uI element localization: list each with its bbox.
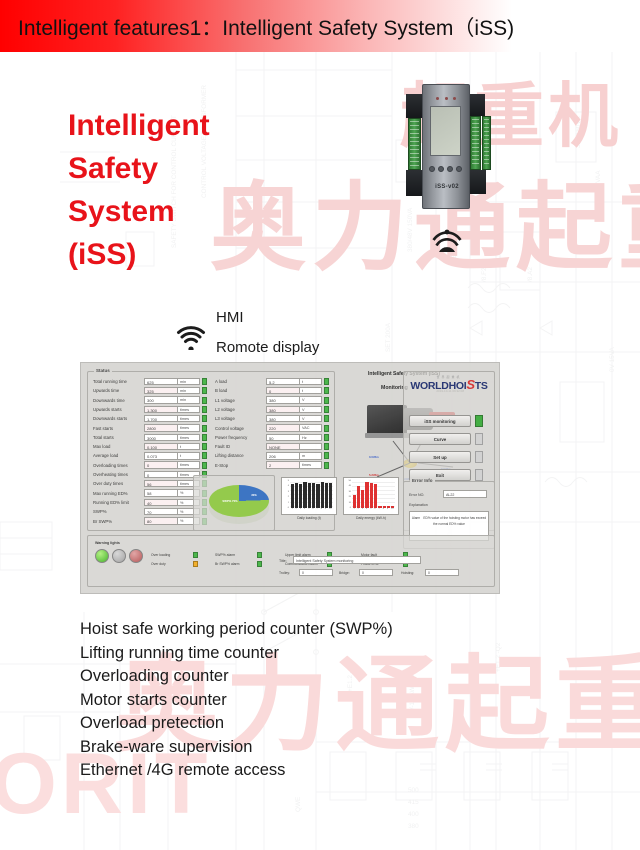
status-left-value[interactable]: 70	[144, 508, 178, 515]
status-indicator-label: Over loading	[151, 553, 170, 557]
chart-bar	[316, 484, 319, 508]
chart-xtick: 6	[312, 508, 313, 514]
warning-lamp-gray	[112, 549, 126, 563]
status-left-label: Total starts	[93, 435, 144, 440]
terminal-strip-left	[408, 118, 421, 170]
chart-xtick: 3	[300, 508, 301, 514]
chart-bar	[374, 484, 377, 508]
chart-xtick: 5	[308, 508, 309, 514]
status-right-led	[324, 462, 329, 469]
status-indicator-label: Br SWP% alarm	[215, 562, 240, 566]
status-right-value[interactable]: 220	[266, 424, 300, 431]
svg-text:380/220V VAA: 380/220V VAA	[595, 170, 602, 212]
status-right-unit: t	[300, 378, 322, 385]
header-bar: Intelligent features1：Intelligent Safety…	[0, 0, 640, 52]
iss-controller-device: iSS-v02	[400, 80, 492, 212]
status-right-label: L2 voltage	[215, 407, 266, 412]
status-right-unit: Hz	[300, 434, 322, 441]
status-left-unit: times	[178, 406, 200, 413]
status-left-label: Max running ED%	[93, 491, 144, 496]
status-left-label: Overheating times	[93, 472, 144, 477]
status-left-value[interactable]: 80	[144, 517, 178, 524]
terminal-block-dark-right-top	[470, 94, 485, 116]
status-right-label: L1 voltage	[215, 398, 266, 403]
status-left-value[interactable]: 1,700	[144, 415, 178, 422]
status-right-row: L2 voltage380V	[215, 405, 329, 414]
status-left-value[interactable]: 40	[144, 499, 178, 506]
device-button-3[interactable]	[447, 166, 453, 172]
device-button-1[interactable]	[429, 166, 435, 172]
status-left-label: Downwards starts	[93, 416, 144, 421]
status-left-led	[202, 397, 207, 404]
svg-text:SET 200A: SET 200A	[385, 322, 392, 352]
status-right-label: A load	[215, 379, 266, 384]
status-left-row: Downwards time300min	[93, 396, 207, 405]
status-left-led	[202, 434, 207, 441]
svg-text:415: 415	[408, 799, 419, 806]
bridge-label: Bridge:	[339, 571, 350, 575]
status-left-led	[202, 378, 207, 385]
status-right-row: Power frequency50Hz	[215, 433, 329, 442]
heading-line-3: System	[68, 190, 210, 233]
chart-bar	[312, 483, 315, 508]
status-left-label: Overloading times	[93, 463, 144, 468]
status-left-unit: min	[178, 378, 200, 385]
status-left-label: SWP%	[93, 509, 144, 514]
status-right-value[interactable]: 5.2	[266, 378, 300, 385]
status-left-label: Br SWP%	[93, 519, 144, 524]
device-button-row[interactable]	[429, 166, 462, 174]
chart-bar	[357, 486, 360, 508]
error-group-title: Error Info	[410, 478, 435, 483]
terminal-block-dark-right-bottom	[470, 170, 486, 194]
status-indicator-led	[257, 552, 262, 558]
device-status-leds	[436, 97, 456, 101]
status-left-led	[202, 443, 207, 450]
terminal-block-dark-left-bottom	[406, 170, 422, 196]
status-left-led	[202, 425, 207, 432]
wireless-signal-icon	[430, 228, 464, 254]
chart-bar	[329, 483, 332, 508]
status-left-row: Downwards starts1,700times	[93, 414, 207, 423]
chart-xtick: 8	[383, 508, 384, 514]
status-right-row: E-Stop2times	[215, 461, 329, 470]
status-left-unit: times	[178, 415, 200, 422]
status-right-led	[324, 406, 329, 413]
pie-slice-b-label: 30%	[247, 493, 261, 497]
chart-bar	[308, 483, 311, 508]
status-left-label: Upwards starts	[93, 407, 144, 412]
status-left-row: Max running ED%58%	[93, 489, 207, 498]
status-right-value[interactable]: NONE	[266, 443, 300, 450]
daily-loading-chart: 543210 12345678910	[281, 477, 337, 515]
status-right-row: Lifting distance206m	[215, 451, 329, 460]
status-right-unit	[300, 443, 322, 450]
svg-text:380/48V 150VA: 380/48V 150VA	[407, 207, 414, 252]
chart-bar	[353, 495, 356, 508]
chart-xtick: 2	[296, 508, 297, 514]
status-left-row: Total running time625min	[93, 377, 207, 386]
chart-bar	[295, 483, 298, 508]
status-right-led	[324, 443, 329, 450]
status-left-row: Average load0.073t	[93, 451, 207, 460]
status-left-row: Upwards starts1,300times	[93, 405, 207, 414]
chart-bar	[299, 484, 302, 508]
chart-xtick: 1	[354, 508, 355, 514]
status-right-label: B load	[215, 388, 266, 393]
chart-xtick: 4	[366, 508, 367, 514]
terminal-strip-right-b	[482, 116, 491, 170]
chart-bar	[361, 490, 364, 508]
status-right-row: Control voltage220VAC	[215, 424, 329, 433]
status-right-led	[324, 378, 329, 385]
daily-loading-caption: Daily loading (t)	[281, 516, 337, 520]
status-left-value[interactable]: 0.073	[144, 452, 178, 459]
status-right-unit: V	[300, 406, 322, 413]
status-right-led	[324, 415, 329, 422]
status-left-label: Total running time	[93, 379, 144, 384]
status-right-unit: V	[300, 415, 322, 422]
status-left-label: Upwards time	[93, 388, 144, 393]
status-right-value[interactable]: 206	[266, 452, 300, 459]
status-left-row: Running ED% limit40%	[93, 498, 207, 507]
chart-xtick: 9	[325, 508, 326, 514]
error-no-label: Error NO.	[409, 493, 424, 497]
status-right-led	[324, 452, 329, 459]
status-left-row: Overheating times0times	[93, 470, 207, 479]
svg-text:/8.F2: /8.F2	[481, 267, 488, 282]
hmi-label: HMI	[216, 309, 244, 326]
status-right-row: Fault IDNONE	[215, 442, 329, 451]
status-left-value[interactable]: 325	[144, 387, 178, 394]
chart-xtick: 10	[329, 508, 331, 514]
terminal-strip-right-a	[470, 116, 481, 170]
remote-display-label: Romote display	[216, 339, 319, 356]
status-right-unit: times	[300, 461, 322, 468]
svg-text:380: 380	[408, 823, 419, 830]
device-model-label: iSS-v02	[427, 184, 467, 190]
chart-xtick: 3	[362, 508, 363, 514]
status-left-unit: min	[178, 396, 200, 403]
chart-xtick: 2	[358, 508, 359, 514]
status-left-row: Over duty times56times	[93, 479, 207, 488]
heading-line-1: Intelligent	[68, 104, 210, 147]
hoisting-input[interactable]: 0	[425, 569, 459, 576]
btn-curve[interactable]: Curve	[409, 433, 471, 445]
device-button-4[interactable]	[456, 166, 462, 172]
chart-bar	[325, 483, 328, 508]
hoisting-label: Hoisting:	[401, 571, 414, 575]
btn-iss-monitoring-led	[475, 415, 483, 427]
feature-item-6: Brake-ware supervision	[80, 736, 540, 760]
status-right-row: L3 voltage380V	[215, 414, 329, 423]
device-lcd-screen	[430, 106, 461, 156]
pie-slice-a-label: SWP% 70%	[219, 499, 241, 503]
status-right-row: L1 voltage380V	[215, 396, 329, 405]
chart-bar	[321, 482, 324, 508]
slide-root: SAFETY SWITCH FOR CONTROL CURRENT CONTRO…	[0, 0, 640, 850]
status-left-unit: t	[178, 443, 200, 450]
status-left-row: Fast starts2800times	[93, 424, 207, 433]
brand-logo: 世界起重机 WORLDHOISTS	[409, 375, 489, 392]
status-left-led	[202, 452, 207, 459]
status-left-label: Downwards time	[93, 398, 144, 403]
swp-pie-chart: SWP% 70% 30%	[209, 485, 269, 517]
status-right-label: Fault ID	[215, 444, 266, 449]
slide-heading: Intelligent Safety System (iSS)	[68, 104, 210, 276]
status-right-led	[324, 425, 329, 432]
status-left-row: Upwards time325min	[93, 386, 207, 395]
chart-xtick: 10	[391, 508, 393, 514]
warning-lights-title: Warning lights	[95, 541, 120, 545]
daily-energy-caption: Daily energy (kW-h)	[343, 516, 399, 520]
status-right-label: E-Stop	[215, 463, 266, 468]
feature-item-4: Motor starts counter	[80, 689, 540, 713]
chart-bar	[365, 482, 368, 508]
trolley-label: Trolley:	[279, 571, 290, 575]
wifi-icon	[176, 326, 206, 350]
btn-iss-monitoring[interactable]: iSS monitoring	[409, 415, 471, 427]
status-left-unit: min	[178, 387, 200, 394]
status-indicator-led	[193, 552, 198, 558]
svg-text:3kV/150VA: 3kV/150VA	[575, 116, 582, 148]
status-left-row: Overloading times0times	[93, 461, 207, 470]
hmi-screenshot-panel[interactable]: Status Total running time625minUpwards t…	[80, 362, 500, 594]
feature-list: Hoist safe working period counter (SWP%)…	[80, 618, 540, 783]
chart-bar	[291, 484, 294, 508]
status-left-unit: t	[178, 452, 200, 459]
btn-set-up-led	[475, 451, 483, 463]
status-right-unit: t	[300, 387, 322, 394]
heading-line-4: (iSS)	[68, 233, 210, 276]
status-left-value[interactable]: 0	[144, 471, 178, 478]
status-left-row: Br SWP%80%	[93, 517, 207, 526]
status-left-led	[202, 406, 207, 413]
chart-xtick: 7	[317, 508, 318, 514]
btn-curve-led	[475, 433, 483, 445]
status-left-value[interactable]: 0.100	[144, 443, 178, 450]
status-right-value[interactable]: 380	[266, 396, 300, 403]
status-right-value[interactable]: 2	[266, 461, 300, 468]
svg-text:400: 400	[408, 811, 419, 818]
status-right-led	[324, 434, 329, 441]
chart-xtick: 8	[321, 508, 322, 514]
status-right-value[interactable]: 380	[266, 406, 300, 413]
status-right-unit: VAC	[300, 424, 322, 431]
btn-exit-led	[475, 469, 483, 481]
warning-lamp-green	[95, 549, 109, 563]
status-left-unit: times	[178, 461, 200, 468]
status-left-row: SWP%70%	[93, 507, 207, 516]
brand-name: WORLDHOISTS	[409, 379, 489, 392]
chart-xtick: 9	[387, 508, 388, 514]
status-left-value[interactable]: 625	[144, 378, 178, 385]
explanation-label: Explanation	[409, 503, 428, 507]
chart-xtick: 5	[370, 508, 371, 514]
status-left-value[interactable]: 3000	[144, 434, 178, 441]
status-left-label: Over duty times	[93, 481, 144, 486]
status-right-value[interactable]: 0	[266, 387, 300, 394]
chart-bar	[370, 483, 373, 508]
error-no-field[interactable]: AL22	[443, 490, 487, 498]
btn-set-up[interactable]: Set up	[409, 451, 471, 463]
status-left-value[interactable]: 300	[144, 396, 178, 403]
terminal-block-dark-left-top	[406, 94, 422, 118]
status-left-label: Max load	[93, 444, 144, 449]
status-right-row: B load0t	[215, 386, 329, 395]
svg-text:/8.A2: /8.A2	[527, 267, 534, 282]
feature-item-1: Hoist safe working period counter (SWP%)	[80, 618, 540, 642]
status-left-value[interactable]: 1,300	[144, 406, 178, 413]
status-indicator-led	[193, 561, 198, 567]
status-right-label: Control voltage	[215, 426, 266, 431]
status-left-value[interactable]: 2800	[144, 424, 178, 431]
warning-lamp-red	[129, 549, 143, 563]
svg-text:QWE: QWE	[295, 797, 302, 812]
chart-xtick: 6	[374, 508, 375, 514]
status-right-label: Lifting distance	[215, 453, 266, 458]
status-right-label: L3 voltage	[215, 416, 266, 421]
status-right-label: Power frequency	[215, 435, 266, 440]
title-field-label: Title:	[279, 559, 287, 563]
status-left-label: Fast starts	[93, 426, 144, 431]
feature-item-7: Ethernet /4G remote access	[80, 759, 540, 783]
status-left-led	[202, 462, 207, 469]
status-left-value[interactable]: 58	[144, 489, 178, 496]
status-indicator-led	[257, 561, 262, 567]
chart-bar	[303, 482, 306, 508]
status-left-row: Total starts3000times	[93, 433, 207, 442]
status-indicator-label: Over duty	[151, 562, 166, 566]
title-field-input[interactable]: Intelligent Safety System monitoring	[293, 556, 421, 564]
feature-item-2: Lifting running time counter	[80, 642, 540, 666]
svg-text:500: 500	[408, 787, 419, 794]
svg-text:0V 15VA: 0V 15VA	[609, 347, 616, 372]
status-left-unit: times	[178, 434, 200, 441]
status-right-row: A load5.2t	[215, 377, 329, 386]
status-left-led	[202, 415, 207, 422]
feature-item-3: Overloading counter	[80, 665, 540, 689]
status-left-label: Running ED% limit	[93, 500, 144, 505]
status-left-unit: times	[178, 424, 200, 431]
trolley-input[interactable]: 0	[299, 569, 333, 576]
device-button-2[interactable]	[438, 166, 444, 172]
status-right-unit: m	[300, 452, 322, 459]
status-left-value[interactable]: 0	[144, 461, 178, 468]
chart-xtick: 7	[379, 508, 380, 514]
status-group-title: Status	[94, 368, 112, 373]
bridge-input[interactable]: 0	[359, 569, 393, 576]
status-right-value[interactable]: 50	[266, 434, 300, 441]
status-left-label: Average load	[93, 453, 144, 458]
page-title: Intelligent features1：Intelligent Safety…	[18, 12, 514, 42]
daily-energy-chart: 50403020100 12345678910	[343, 477, 399, 515]
bottom-status-group	[87, 535, 495, 587]
heading-line-2: Safety	[68, 147, 210, 190]
status-left-row: Max load0.100t	[93, 442, 207, 451]
status-right-unit: V	[300, 396, 322, 403]
status-right-value[interactable]: 380	[266, 415, 300, 422]
status-right-led	[324, 397, 329, 404]
feature-item-5: Overload pretection	[80, 712, 540, 736]
chart-xtick: 4	[304, 508, 305, 514]
status-left-value[interactable]: 56	[144, 480, 178, 487]
status-indicator-label: SWP% alarm	[215, 553, 235, 557]
status-right-led	[324, 387, 329, 394]
status-left-led	[202, 387, 207, 394]
chart-xtick: 1	[292, 508, 293, 514]
